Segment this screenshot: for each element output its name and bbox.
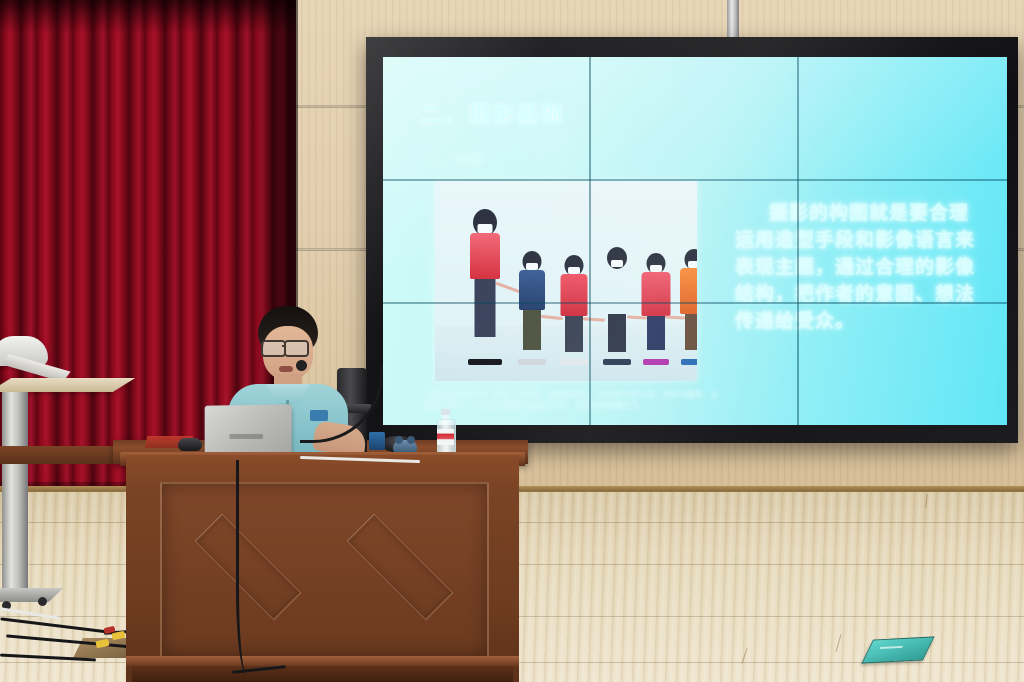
photo-person-child xyxy=(639,253,673,359)
laptop-brand-logo xyxy=(229,434,263,439)
video-wall-seam-vertical xyxy=(589,57,591,425)
computer-mouse[interactable] xyxy=(178,438,202,451)
blue-device-box[interactable] xyxy=(369,432,385,450)
glasses-icon xyxy=(261,340,286,357)
video-wall-screen[interactable]: 二、摄影基础 1、构图 xyxy=(383,57,1007,425)
slide-photo-children-in-smog xyxy=(435,181,697,381)
glasses-icon xyxy=(284,340,309,357)
podium-diamond-motif-right xyxy=(347,514,453,620)
document-camera-tray xyxy=(0,378,135,392)
video-wall-bezel: 二、摄影基础 1、构图 xyxy=(366,37,1018,443)
video-wall-seam-horizontal xyxy=(383,179,1007,181)
curtain-top-shadow xyxy=(0,0,296,34)
glasses-bridge xyxy=(282,345,286,347)
photo-person-child xyxy=(677,249,697,359)
lecture-hall-scene: 二、摄影基础 1、构图 xyxy=(0,0,1024,682)
photo-person-child xyxy=(515,251,549,359)
video-wall-seam-vertical xyxy=(797,57,799,425)
podium-hanging-cable xyxy=(236,460,263,675)
slide-photo-caption: 【《雾霾中的孩子》 作者：王齐波 《新闻晨报》】2013年10月21日，PM2.… xyxy=(423,389,723,411)
bottle-label xyxy=(437,429,454,445)
slide-body-text: 摄影的构图就是要合理运用造型手段和影像语言来表现主题，通过合理的影像结构，把作者… xyxy=(735,200,985,335)
presenter-mouth xyxy=(279,366,293,372)
document-camera-column xyxy=(2,392,28,590)
podium-plinth xyxy=(132,666,513,682)
podium-recessed-panel xyxy=(160,482,489,658)
slide-subtitle: 1、构图 xyxy=(431,149,485,168)
presentation-slide: 二、摄影基础 1、构图 xyxy=(383,57,1007,425)
microphone-capsule-icon xyxy=(296,360,307,371)
stand-caster-wheel xyxy=(38,597,47,606)
podium-base-trim xyxy=(126,656,519,666)
wooden-podium xyxy=(126,455,519,682)
photo-person-child xyxy=(557,255,591,359)
water-bottle[interactable] xyxy=(437,409,454,456)
video-wall-seam-horizontal xyxy=(383,302,1007,304)
slide-title: 二、摄影基础 xyxy=(421,99,565,129)
